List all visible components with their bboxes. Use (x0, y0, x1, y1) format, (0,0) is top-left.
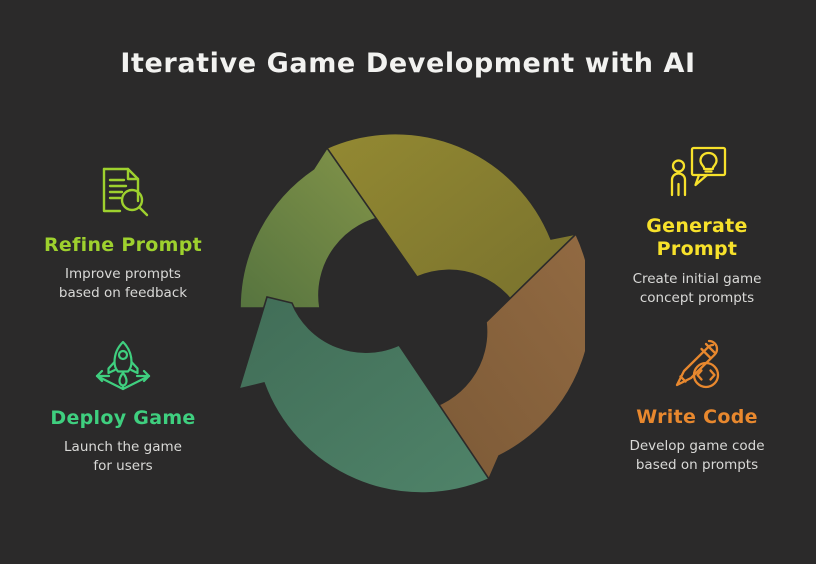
document-search-icon (8, 160, 238, 226)
node-title: Generate Prompt (582, 215, 812, 261)
cycle-diagram (231, 121, 585, 495)
node-write-code[interactable]: Write Code Develop game code based on pr… (582, 332, 812, 476)
cycle-segment-deploy (239, 297, 489, 493)
node-generate-prompt[interactable]: Generate Prompt Create initial game conc… (582, 140, 812, 308)
node-title: Refine Prompt (8, 235, 238, 256)
person-speech-bubble-lightbulb-icon (582, 140, 812, 206)
node-refine-prompt[interactable]: Refine Prompt Improve prompts based on f… (8, 160, 238, 304)
node-description: Develop game code based on prompts (582, 437, 812, 475)
node-description: Launch the game for users (8, 438, 238, 476)
cycle-svg (231, 121, 585, 495)
node-description: Improve prompts based on feedback (8, 265, 238, 303)
rocket-launch-icon (8, 333, 238, 399)
pencil-code-icon (582, 332, 812, 398)
node-description: Create initial game concept prompts (582, 270, 812, 308)
node-deploy-game[interactable]: Deploy Game Launch the game for users (8, 333, 238, 477)
page-title: Iterative Game Development with AI (0, 48, 816, 79)
node-title: Deploy Game (8, 408, 238, 429)
node-title: Write Code (582, 407, 812, 428)
